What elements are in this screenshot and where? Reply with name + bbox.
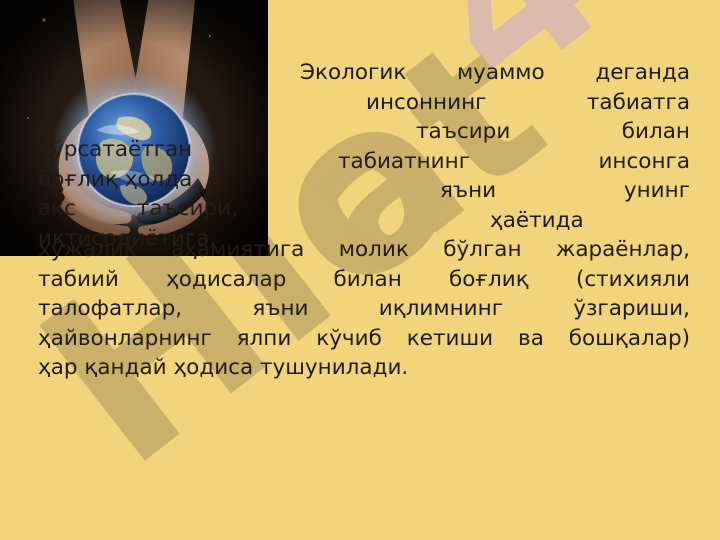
text-line: иқтисодиётига, bbox=[38, 224, 238, 254]
text-line: кўрсатаётган bbox=[38, 135, 238, 165]
text-line: Экологик муаммо деганда bbox=[38, 58, 690, 88]
slide-canvas: 44 at Hio bbox=[0, 0, 720, 540]
text-line: ҳайвонларнинг ялпи кўчиб кетиши ва бошқа… bbox=[38, 324, 690, 354]
text-line: ҳар қандай ҳодиса тушунилади. bbox=[38, 353, 690, 383]
slide-body-text-overlap: кўрсатаётган боғлиқ ҳолда акс таъсири, и… bbox=[38, 135, 238, 253]
text-line: акс таъсири, bbox=[38, 194, 238, 224]
text-line: инсоннинг табиатга bbox=[38, 88, 690, 118]
text-line: табиий ҳодисалар билан боғлиқ (стихияли bbox=[38, 265, 690, 295]
text-line: боғлиқ ҳолда bbox=[38, 165, 238, 195]
text-line: талофатлар, яъни иқлимнинг ўзгариши, bbox=[38, 294, 690, 324]
